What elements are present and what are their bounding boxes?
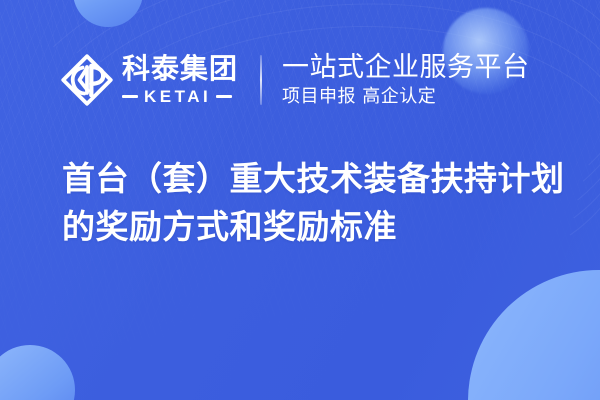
decorative-circle-top <box>73 0 143 27</box>
header-divider <box>260 55 262 105</box>
banner-header: 科泰集团 KETAI 一站式企业服务平台 项目申报 高企认定 <box>0 44 600 116</box>
decorative-circle-bottom-left <box>0 345 75 400</box>
page-title-line-2: 的奖励方式和奖励标准 <box>62 203 582 251</box>
tagline-block: 一站式企业服务平台 项目申报 高企认定 <box>282 53 530 108</box>
tagline-sub: 项目申报 高企认定 <box>282 87 530 108</box>
brand-name-en: KETAI <box>144 88 211 105</box>
page-title-line-1: 首台（套）重大技术装备扶持计划 <box>62 155 582 203</box>
brand-lockup: 科泰集团 KETAI <box>60 53 238 107</box>
tagline-main: 一站式企业服务平台 <box>282 53 530 83</box>
dash-right-icon <box>216 95 232 99</box>
brand-wordmark: 科泰集团 KETAI <box>122 55 238 105</box>
promo-banner: 科泰集团 KETAI 一站式企业服务平台 项目申报 高企认定 首台（套）重大技术… <box>0 0 600 400</box>
brand-name-cn: 科泰集团 <box>122 55 238 83</box>
decorative-circle-bottom-right <box>468 270 600 400</box>
page-title: 首台（套）重大技术装备扶持计划 的奖励方式和奖励标准 <box>62 155 582 251</box>
brand-name-en-row: KETAI <box>122 88 238 105</box>
ketai-diamond-kp-logo-icon <box>60 53 114 107</box>
dash-left-icon <box>122 95 138 99</box>
